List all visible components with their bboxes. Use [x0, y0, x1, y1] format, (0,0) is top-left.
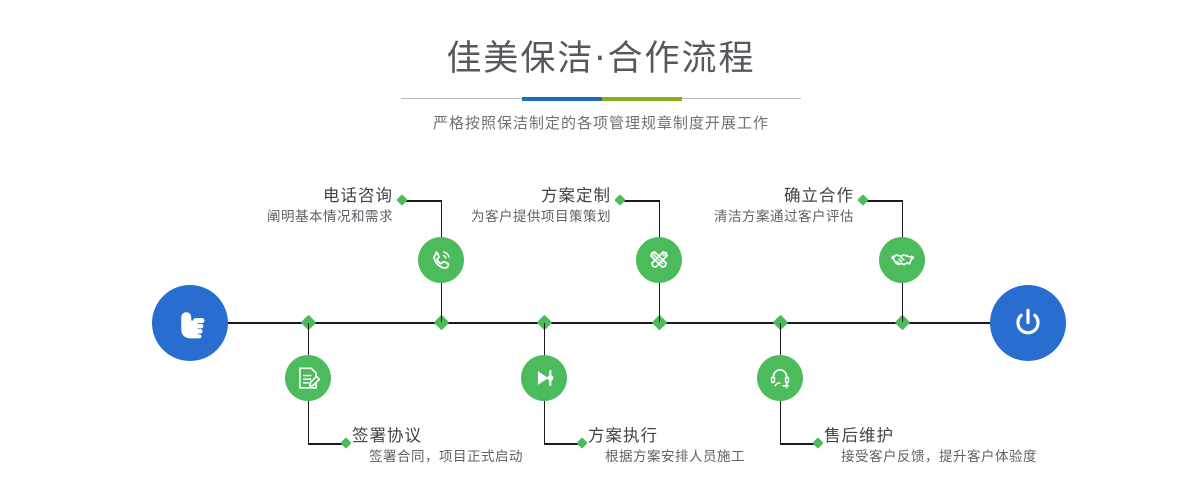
step-desc-step-1: 签署合同，项目正式启动	[352, 447, 523, 467]
step-label-step-5: 售后维护 接受客户反馈，提升客户体验度	[824, 425, 1037, 467]
step-desc-step-4: 为客户提供项目策策划	[373, 207, 611, 227]
phone-call-icon	[428, 247, 454, 273]
step-desc-step-2: 阐明基本情况和需求	[155, 207, 393, 227]
step-title-step-1: 签署协议	[352, 425, 523, 447]
step-title-step-6: 确立合作	[616, 185, 854, 207]
pencil-design-icon	[646, 247, 672, 273]
step-icon-step-2[interactable]	[418, 237, 464, 283]
step-label-step-1: 签署协议 签署合同，项目正式启动	[352, 425, 523, 467]
step-icon-step-5[interactable]	[757, 355, 803, 401]
page-subtitle: 严格按照保洁制定的各项管理规章制度开展工作	[0, 101, 1202, 133]
timeline-start-node[interactable]	[152, 285, 228, 361]
step-icon-step-1[interactable]	[285, 355, 331, 401]
step-icon-step-3[interactable]	[521, 355, 567, 401]
step-label-step-3: 方案执行 根据方案安排人员施工	[588, 425, 745, 467]
step-label-step-6: 确立合作 清洁方案通过客户评估	[616, 185, 854, 227]
step-desc-step-5: 接受客户反馈，提升客户体验度	[824, 447, 1037, 467]
power-icon	[1007, 302, 1049, 344]
step-label-step-4: 方案定制 为客户提供项目策策划	[373, 185, 611, 227]
document-sign-icon	[295, 365, 321, 391]
label-marker-step-3	[576, 437, 587, 448]
page-title: 佳美保洁·合作流程	[0, 0, 1202, 82]
label-marker-step-5	[812, 437, 823, 448]
label-marker-step-6	[857, 194, 868, 205]
step-icon-step-4[interactable]	[636, 237, 682, 283]
step-title-step-2: 电话咨询	[155, 185, 393, 207]
step-title-step-4: 方案定制	[373, 185, 611, 207]
step-title-step-3: 方案执行	[588, 425, 745, 447]
label-marker-step-1	[340, 437, 351, 448]
process-timeline: 签署协议 签署合同，项目正式启动 电话咨询 阐明基本情况和需求	[0, 150, 1202, 502]
divider-segment-green	[602, 97, 682, 101]
divider-segment-blue	[522, 97, 602, 101]
timeline-end-node[interactable]	[990, 285, 1066, 361]
connector-horizontal-step-6	[863, 200, 902, 202]
headset-support-icon	[767, 365, 793, 391]
step-label-step-2: 电话咨询 阐明基本情况和需求	[155, 185, 393, 227]
step-icon-step-6[interactable]	[879, 237, 925, 283]
page-header: 佳美保洁·合作流程 严格按照保洁制定的各项管理规章制度开展工作	[0, 0, 1202, 133]
title-divider	[401, 97, 801, 101]
pointing-hand-icon	[170, 303, 210, 343]
step-title-step-5: 售后维护	[824, 425, 1037, 447]
play-execute-icon	[531, 365, 557, 391]
step-desc-step-6: 清洁方案通过客户评估	[616, 207, 854, 227]
handshake-icon	[889, 247, 916, 274]
step-desc-step-3: 根据方案安排人员施工	[588, 447, 745, 467]
